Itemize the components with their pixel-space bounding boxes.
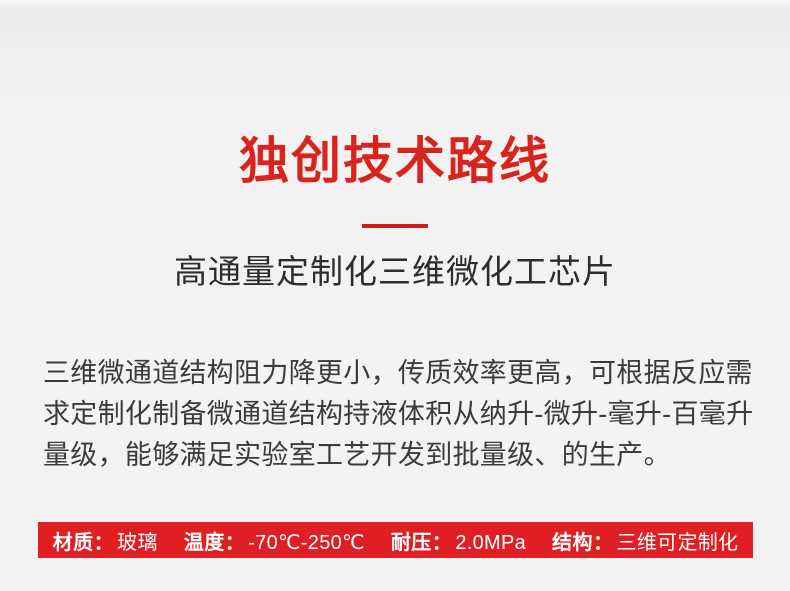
product-feature-banner: 独创技术路线 高通量定制化三维微化工芯片 三维微通道结构阻力降更小，传质效率更高… <box>0 0 790 591</box>
body-line: 求定制化制备微通道结构持液体积从纳升-微升-毫升-百毫升 <box>43 394 753 435</box>
spec-label: 材质： <box>53 526 115 555</box>
spec-label: 耐压： <box>391 526 453 555</box>
body-paragraph: 三维微通道结构阻力降更小，传质效率更高，可根据反应需 求定制化制备微通道结构持液… <box>43 353 753 476</box>
red-divider-line <box>362 224 428 228</box>
spec-bar: 材质： 玻璃 温度： -70℃-250℃ 耐压： 2.0MPa 结构： 三维可定… <box>38 522 753 558</box>
spec-label: 结构： <box>552 526 614 555</box>
spec-value: 三维可定制化 <box>617 526 739 555</box>
spec-item-material: 材质： 玻璃 <box>40 526 171 555</box>
body-line: 量级，能够满足实验室工艺开发到批量级、的生产。 <box>43 435 753 476</box>
spec-value: 2.0MPa <box>455 532 526 555</box>
page-subtitle: 高通量定制化三维微化工芯片 <box>0 251 790 293</box>
spec-item-pressure: 耐压： 2.0MPa <box>378 526 539 555</box>
spec-item-temperature: 温度： -70℃-250℃ <box>171 526 378 555</box>
spec-value: -70℃-250℃ <box>248 530 365 555</box>
spec-item-structure: 结构： 三维可定制化 <box>539 526 751 555</box>
page-title: 独创技术路线 <box>0 132 790 190</box>
divider-wrap <box>0 224 790 229</box>
body-line: 三维微通道结构阻力降更小，传质效率更高，可根据反应需 <box>43 353 753 394</box>
spec-label: 温度： <box>184 526 246 555</box>
spec-value: 玻璃 <box>117 526 158 555</box>
heading-block: 独创技术路线 高通量定制化三维微化工芯片 <box>0 132 790 293</box>
